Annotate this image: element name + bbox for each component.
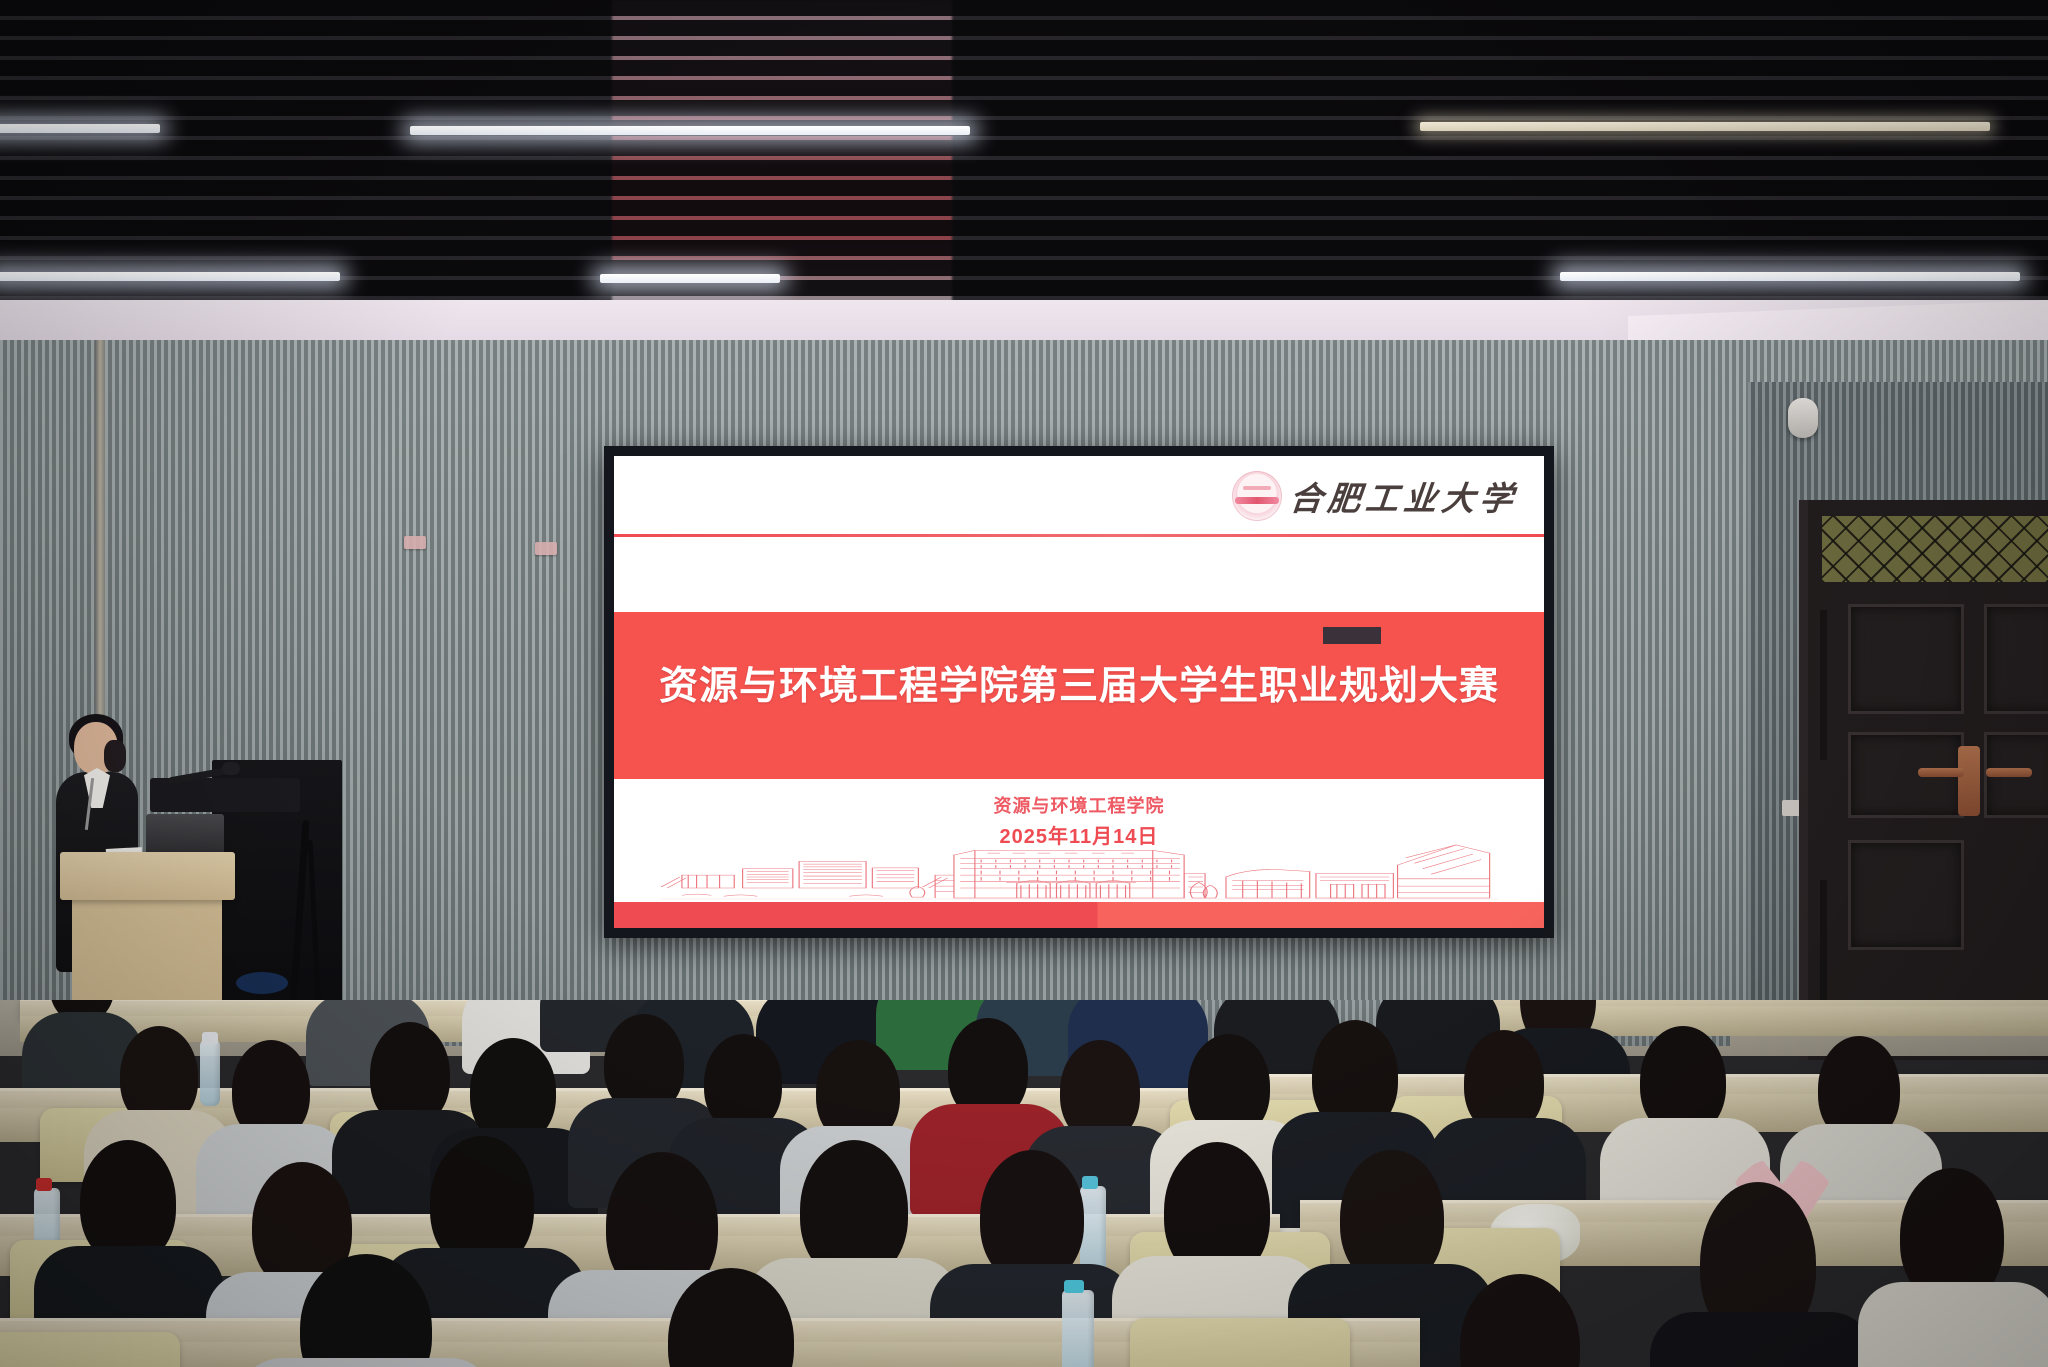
chair-back[interactable] <box>0 1332 180 1367</box>
lectern-top <box>60 852 235 900</box>
diamond-lattice-icon <box>1822 516 2048 582</box>
door-handle-lever-right[interactable] <box>1986 768 2032 777</box>
slide-bottom-band <box>614 902 1544 928</box>
audience-torso <box>238 1358 494 1367</box>
door-panel-right-top <box>1984 604 2048 714</box>
wall-marker-left <box>404 536 426 549</box>
ceiling <box>0 0 2048 330</box>
campus-building-line-art-icon <box>661 833 1498 902</box>
cable-coil-blue <box>236 972 288 994</box>
auditorium-scene: 合肥工业大学 资源与环境工程学院第三届大学生职业规划大赛 资源与环境工程学院 2… <box>0 0 2048 1367</box>
door-hinge <box>1820 610 1827 760</box>
presenter-hair-side <box>104 740 126 772</box>
ceiling-led-5 <box>600 274 780 283</box>
ceiling-led-4 <box>0 272 340 281</box>
wall-marker-right <box>535 542 557 555</box>
slide-dash-accent <box>1323 627 1381 644</box>
podium-laptop[interactable] <box>146 814 224 856</box>
water-bottle[interactable] <box>200 1040 220 1106</box>
wall-sensor-light <box>1788 398 1818 438</box>
audience-seating <box>0 1000 2048 1367</box>
university-logo-text: 合肥工业大学 <box>1287 472 1520 520</box>
hfut-seal-icon <box>1232 471 1282 521</box>
chair-back[interactable] <box>1130 1318 1350 1367</box>
bottle-cap <box>202 1032 218 1045</box>
ceiling-led-2 <box>410 126 970 135</box>
bottle-cap <box>1064 1280 1084 1293</box>
door-panel-top <box>1848 604 1964 714</box>
door-panel-bottom <box>1848 840 1964 950</box>
ceiling-led-3 <box>1420 122 1990 131</box>
slide-subtitle: 资源与环境工程学院 <box>614 792 1544 818</box>
slide-footer-area: 资源与环境工程学院 2025年11月14日 <box>614 779 1544 902</box>
ceiling-led-6 <box>1560 272 2020 281</box>
audience-torso <box>1650 1312 1874 1367</box>
bottle-cap <box>36 1178 52 1191</box>
water-bottle[interactable] <box>1080 1186 1106 1276</box>
slide-title: 资源与环境工程学院第三届大学生职业规划大赛 <box>614 655 1544 711</box>
projection-screen[interactable]: 合肥工业大学 资源与环境工程学院第三届大学生职业规划大赛 资源与环境工程学院 2… <box>604 446 1554 938</box>
slide-header-rule <box>614 534 1544 537</box>
bottle-cap <box>1082 1176 1098 1189</box>
microphone-head-icon <box>222 762 240 775</box>
water-bottle[interactable] <box>1062 1290 1094 1367</box>
door-handle-lock[interactable] <box>1958 746 1980 816</box>
door-handle-lever[interactable] <box>1918 768 1964 777</box>
audience-torso <box>1858 1282 2048 1367</box>
presentation-slide: 合肥工业大学 资源与环境工程学院第三届大学生职业规划大赛 资源与环境工程学院 2… <box>614 456 1544 928</box>
university-logo: 合肥工业大学 <box>1232 471 1518 521</box>
auditorium-door[interactable] <box>1799 500 2048 1060</box>
ceiling-led-1 <box>0 124 160 133</box>
door-transom-window <box>1822 516 2048 582</box>
